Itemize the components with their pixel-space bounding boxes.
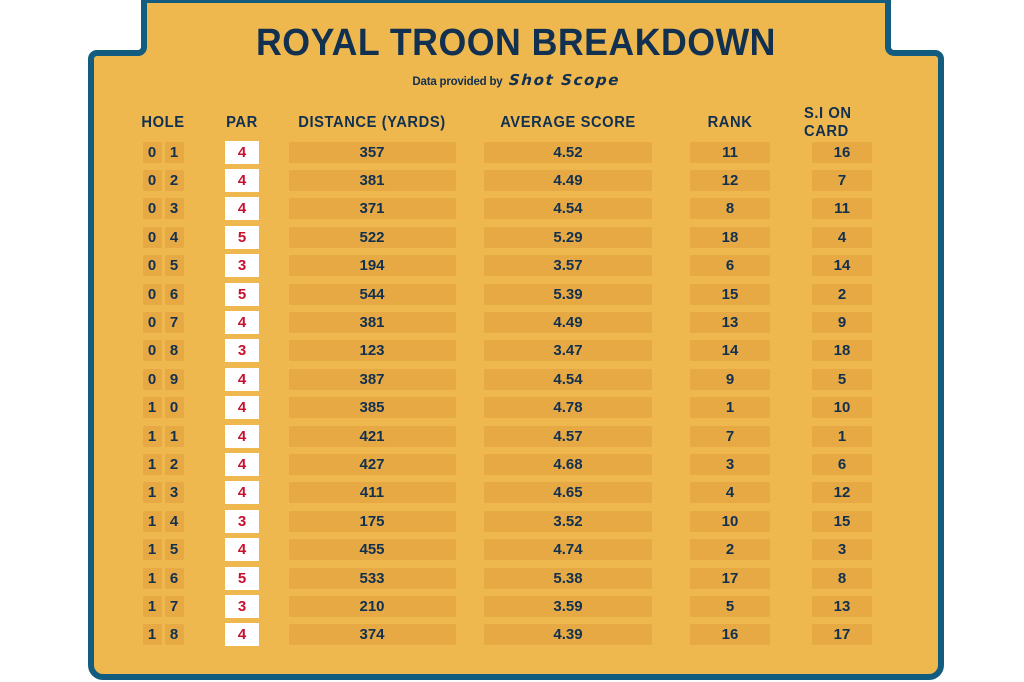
hole-digit: 0 xyxy=(143,284,162,305)
average-score-value: 4.54 xyxy=(484,369,652,390)
si-on-card-value: 10 xyxy=(812,397,872,418)
table-row: 1732103.59513 xyxy=(88,592,944,620)
rank-value: 9 xyxy=(690,369,770,390)
cell-rank: 6 xyxy=(684,252,776,280)
rank-value: 17 xyxy=(690,568,770,589)
table-row: 0343714.54811 xyxy=(88,195,944,223)
cell-si-on-card: 17 xyxy=(802,621,882,649)
column-header-average-score: AVERAGE SCORE xyxy=(484,108,651,138)
par-value: 3 xyxy=(225,510,259,533)
cell-average-score: 3.57 xyxy=(480,252,656,280)
cell-distance: 175 xyxy=(284,507,460,535)
rank-value: 1 xyxy=(690,397,770,418)
rank-value: 7 xyxy=(690,426,770,447)
hole-digit: 5 xyxy=(165,255,184,276)
cell-si-on-card: 11 xyxy=(802,195,882,223)
cell-rank: 12 xyxy=(684,166,776,194)
average-score-value: 5.39 xyxy=(484,284,652,305)
hole-digit: 0 xyxy=(143,198,162,219)
par-value: 3 xyxy=(225,339,259,362)
cell-average-score: 4.39 xyxy=(480,621,656,649)
cell-distance: 371 xyxy=(284,195,460,223)
cell-par: 4 xyxy=(212,166,272,194)
page-title: ROYAL TROON BREAKDOWN xyxy=(114,24,919,64)
par-value: 3 xyxy=(225,595,259,618)
rank-value: 13 xyxy=(690,312,770,333)
hole-digit: 3 xyxy=(165,482,184,503)
cell-distance: 123 xyxy=(284,337,460,365)
cell-average-score: 4.54 xyxy=(480,195,656,223)
si-on-card-value: 14 xyxy=(812,255,872,276)
rank-value: 3 xyxy=(690,454,770,475)
hole-digit: 4 xyxy=(165,511,184,532)
column-header-distance: DISTANCE (YARDS) xyxy=(288,108,455,138)
cell-distance: 387 xyxy=(284,365,460,393)
cell-average-score: 4.49 xyxy=(480,166,656,194)
hole-digit: 2 xyxy=(165,170,184,191)
cell-distance: 455 xyxy=(284,535,460,563)
cell-par: 4 xyxy=(212,195,272,223)
table-row: 1544554.7423 xyxy=(88,535,944,563)
par-value: 4 xyxy=(225,425,259,448)
distance-value: 123 xyxy=(289,340,456,361)
cell-rank: 18 xyxy=(684,223,776,251)
rank-value: 15 xyxy=(690,284,770,305)
cell-average-score: 4.57 xyxy=(480,422,656,450)
cell-hole: 02 xyxy=(124,166,202,194)
si-on-card-value: 9 xyxy=(812,312,872,333)
distance-value: 387 xyxy=(289,369,456,390)
distance-value: 427 xyxy=(289,454,456,475)
cell-distance: 421 xyxy=(284,422,460,450)
hole-digit: 8 xyxy=(165,340,184,361)
cell-distance: 385 xyxy=(284,394,460,422)
par-value: 5 xyxy=(225,226,259,249)
par-value: 4 xyxy=(225,141,259,164)
cell-hole: 04 xyxy=(124,223,202,251)
hole-digits: 12 xyxy=(143,454,184,475)
rank-value: 18 xyxy=(690,227,770,248)
par-value: 4 xyxy=(225,197,259,220)
average-score-value: 3.57 xyxy=(484,255,652,276)
cell-rank: 15 xyxy=(684,280,776,308)
rank-value: 5 xyxy=(690,596,770,617)
cell-rank: 3 xyxy=(684,450,776,478)
column-header-si-on-card: S.I ON CARD xyxy=(804,108,880,138)
si-on-card-value: 3 xyxy=(812,539,872,560)
hole-digits: 17 xyxy=(143,596,184,617)
cell-par: 4 xyxy=(212,365,272,393)
cell-rank: 11 xyxy=(684,138,776,166)
shot-scope-logo: Shot Scope xyxy=(508,71,620,89)
cell-average-score: 4.52 xyxy=(480,138,656,166)
distance-value: 210 xyxy=(289,596,456,617)
cell-distance: 381 xyxy=(284,166,460,194)
cell-par: 4 xyxy=(212,450,272,478)
column-header-hole: HOLE xyxy=(126,108,200,138)
cell-par: 3 xyxy=(212,252,272,280)
average-score-value: 4.49 xyxy=(484,170,652,191)
cell-hole: 08 xyxy=(124,337,202,365)
si-on-card-value: 6 xyxy=(812,454,872,475)
cell-si-on-card: 13 xyxy=(802,592,882,620)
column-header-par: PAR xyxy=(214,108,271,138)
average-score-value: 4.78 xyxy=(484,397,652,418)
table-row: 1144214.5771 xyxy=(88,422,944,450)
hole-digit: 0 xyxy=(143,369,162,390)
hole-digit: 9 xyxy=(165,369,184,390)
cell-average-score: 3.47 xyxy=(480,337,656,365)
table-row: 1843744.391617 xyxy=(88,621,944,649)
hole-digit: 0 xyxy=(143,340,162,361)
average-score-value: 4.74 xyxy=(484,539,652,560)
hole-digit: 0 xyxy=(165,397,184,418)
hole-digits: 18 xyxy=(143,624,184,645)
table-row: 1043854.78110 xyxy=(88,394,944,422)
table-row: 0455225.29184 xyxy=(88,223,944,251)
par-value: 4 xyxy=(225,169,259,192)
average-score-value: 3.52 xyxy=(484,511,652,532)
cell-si-on-card: 10 xyxy=(802,394,882,422)
si-on-card-value: 17 xyxy=(812,624,872,645)
rank-value: 2 xyxy=(690,539,770,560)
hole-digit: 1 xyxy=(143,511,162,532)
credit-line: Data provided by Shot Scope xyxy=(88,71,944,89)
cell-average-score: 4.49 xyxy=(480,308,656,336)
table-row: 1244274.6836 xyxy=(88,450,944,478)
si-on-card-value: 13 xyxy=(812,596,872,617)
cell-average-score: 3.59 xyxy=(480,592,656,620)
cell-hole: 15 xyxy=(124,535,202,563)
cell-average-score: 5.38 xyxy=(480,564,656,592)
cell-hole: 10 xyxy=(124,394,202,422)
rank-value: 10 xyxy=(690,511,770,532)
distance-value: 533 xyxy=(289,568,456,589)
table-row: 0243814.49127 xyxy=(88,166,944,194)
cell-rank: 1 xyxy=(684,394,776,422)
cell-hole: 09 xyxy=(124,365,202,393)
cell-distance: 544 xyxy=(284,280,460,308)
hole-digits: 09 xyxy=(143,369,184,390)
si-on-card-value: 5 xyxy=(812,369,872,390)
si-on-card-value: 8 xyxy=(812,568,872,589)
rank-value: 14 xyxy=(690,340,770,361)
rank-value: 11 xyxy=(690,142,770,163)
hole-digits: 07 xyxy=(143,312,184,333)
hole-digits: 11 xyxy=(143,426,184,447)
hole-digit: 0 xyxy=(143,170,162,191)
hole-digit: 3 xyxy=(165,198,184,219)
cell-par: 3 xyxy=(212,507,272,535)
si-on-card-value: 12 xyxy=(812,482,872,503)
cell-si-on-card: 8 xyxy=(802,564,882,592)
hole-digits: 06 xyxy=(143,284,184,305)
distance-value: 421 xyxy=(289,426,456,447)
cell-si-on-card: 16 xyxy=(802,138,882,166)
title-block: ROYAL TROON BREAKDOWN Data provided by S… xyxy=(88,24,944,89)
hole-digits: 13 xyxy=(143,482,184,503)
si-on-card-value: 15 xyxy=(812,511,872,532)
distance-value: 455 xyxy=(289,539,456,560)
hole-digit: 5 xyxy=(165,539,184,560)
distance-value: 175 xyxy=(289,511,456,532)
par-value: 4 xyxy=(225,481,259,504)
cell-si-on-card: 4 xyxy=(802,223,882,251)
rank-value: 8 xyxy=(690,198,770,219)
cell-distance: 427 xyxy=(284,450,460,478)
si-on-card-value: 16 xyxy=(812,142,872,163)
cell-distance: 381 xyxy=(284,308,460,336)
hole-digit: 4 xyxy=(165,227,184,248)
table-row: 0831233.471418 xyxy=(88,337,944,365)
cell-average-score: 4.74 xyxy=(480,535,656,563)
hole-digit: 8 xyxy=(165,624,184,645)
cell-par: 5 xyxy=(212,223,272,251)
hole-digit: 1 xyxy=(143,426,162,447)
rank-value: 12 xyxy=(690,170,770,191)
cell-hole: 06 xyxy=(124,280,202,308)
distance-value: 374 xyxy=(289,624,456,645)
cell-distance: 357 xyxy=(284,138,460,166)
hole-digit: 1 xyxy=(143,454,162,475)
hole-digit: 0 xyxy=(143,312,162,333)
cell-par: 4 xyxy=(212,394,272,422)
table-row: 0943874.5495 xyxy=(88,365,944,393)
hole-digit: 2 xyxy=(165,454,184,475)
table-row: 0143574.521116 xyxy=(88,138,944,166)
average-score-value: 4.65 xyxy=(484,482,652,503)
table-row: 0655445.39152 xyxy=(88,280,944,308)
cell-si-on-card: 14 xyxy=(802,252,882,280)
cell-hole: 11 xyxy=(124,422,202,450)
cell-distance: 522 xyxy=(284,223,460,251)
average-score-value: 3.47 xyxy=(484,340,652,361)
rank-value: 4 xyxy=(690,482,770,503)
distance-value: 385 xyxy=(289,397,456,418)
hole-digits: 15 xyxy=(143,539,184,560)
hole-digit: 6 xyxy=(165,568,184,589)
hole-digit: 1 xyxy=(143,596,162,617)
si-on-card-value: 18 xyxy=(812,340,872,361)
cell-par: 3 xyxy=(212,592,272,620)
column-header-rank: RANK xyxy=(686,108,773,138)
cell-rank: 4 xyxy=(684,479,776,507)
cell-rank: 5 xyxy=(684,592,776,620)
cell-hole: 05 xyxy=(124,252,202,280)
cell-hole: 14 xyxy=(124,507,202,535)
cell-si-on-card: 5 xyxy=(802,365,882,393)
cell-distance: 533 xyxy=(284,564,460,592)
hole-digits: 01 xyxy=(143,142,184,163)
cell-rank: 16 xyxy=(684,621,776,649)
score-table: HOLE PAR DISTANCE (YARDS) AVERAGE SCORE … xyxy=(88,108,944,649)
cell-rank: 2 xyxy=(684,535,776,563)
cell-si-on-card: 18 xyxy=(802,337,882,365)
distance-value: 411 xyxy=(289,482,456,503)
average-score-value: 4.54 xyxy=(484,198,652,219)
cell-rank: 9 xyxy=(684,365,776,393)
average-score-value: 5.38 xyxy=(484,568,652,589)
par-value: 4 xyxy=(225,311,259,334)
distance-value: 544 xyxy=(289,284,456,305)
cell-rank: 10 xyxy=(684,507,776,535)
cell-par: 3 xyxy=(212,337,272,365)
hole-digit: 1 xyxy=(143,624,162,645)
hole-digit: 0 xyxy=(143,227,162,248)
hole-digit: 1 xyxy=(165,426,184,447)
hole-digit: 0 xyxy=(143,142,162,163)
cell-hole: 16 xyxy=(124,564,202,592)
table-row: 0743814.49139 xyxy=(88,308,944,336)
distance-value: 357 xyxy=(289,142,456,163)
table-row: 1344114.65412 xyxy=(88,479,944,507)
cell-par: 4 xyxy=(212,422,272,450)
cell-si-on-card: 6 xyxy=(802,450,882,478)
cell-hole: 18 xyxy=(124,621,202,649)
cell-distance: 210 xyxy=(284,592,460,620)
hole-digit: 6 xyxy=(165,284,184,305)
distance-value: 381 xyxy=(289,312,456,333)
hole-digit: 1 xyxy=(143,539,162,560)
table-row: 1655335.38178 xyxy=(88,564,944,592)
cell-rank: 7 xyxy=(684,422,776,450)
hole-digits: 10 xyxy=(143,397,184,418)
cell-average-score: 3.52 xyxy=(480,507,656,535)
si-on-card-value: 1 xyxy=(812,426,872,447)
cell-par: 4 xyxy=(212,138,272,166)
cell-par: 4 xyxy=(212,621,272,649)
cell-hole: 12 xyxy=(124,450,202,478)
hole-digits: 16 xyxy=(143,568,184,589)
credit-prefix-label: Data provided by xyxy=(412,76,502,88)
average-score-value: 5.29 xyxy=(484,227,652,248)
cell-distance: 194 xyxy=(284,252,460,280)
table-row: 0531943.57614 xyxy=(88,252,944,280)
cell-average-score: 5.39 xyxy=(480,280,656,308)
par-value: 4 xyxy=(225,453,259,476)
rank-value: 6 xyxy=(690,255,770,276)
table-header-row: HOLE PAR DISTANCE (YARDS) AVERAGE SCORE … xyxy=(88,108,944,138)
distance-value: 522 xyxy=(289,227,456,248)
cell-si-on-card: 9 xyxy=(802,308,882,336)
cell-si-on-card: 1 xyxy=(802,422,882,450)
cell-hole: 03 xyxy=(124,195,202,223)
hole-digits: 14 xyxy=(143,511,184,532)
cell-par: 5 xyxy=(212,564,272,592)
average-score-value: 3.59 xyxy=(484,596,652,617)
hole-digits: 02 xyxy=(143,170,184,191)
hole-digits: 05 xyxy=(143,255,184,276)
par-value: 4 xyxy=(225,623,259,646)
cell-distance: 411 xyxy=(284,479,460,507)
rank-value: 16 xyxy=(690,624,770,645)
cell-hole: 07 xyxy=(124,308,202,336)
cell-average-score: 4.54 xyxy=(480,365,656,393)
si-on-card-value: 7 xyxy=(812,170,872,191)
hole-digit: 1 xyxy=(165,142,184,163)
cell-si-on-card: 12 xyxy=(802,479,882,507)
par-value: 4 xyxy=(225,538,259,561)
par-value: 4 xyxy=(225,368,259,391)
table-row: 1431753.521015 xyxy=(88,507,944,535)
cell-si-on-card: 2 xyxy=(802,280,882,308)
cell-par: 4 xyxy=(212,535,272,563)
par-value: 5 xyxy=(225,567,259,590)
si-on-card-value: 2 xyxy=(812,284,872,305)
cell-par: 5 xyxy=(212,280,272,308)
distance-value: 381 xyxy=(289,170,456,191)
hole-digits: 08 xyxy=(143,340,184,361)
par-value: 5 xyxy=(225,283,259,306)
average-score-value: 4.39 xyxy=(484,624,652,645)
hole-digit: 1 xyxy=(143,568,162,589)
cell-si-on-card: 15 xyxy=(802,507,882,535)
cell-average-score: 4.65 xyxy=(480,479,656,507)
average-score-value: 4.68 xyxy=(484,454,652,475)
cell-rank: 8 xyxy=(684,195,776,223)
cell-par: 4 xyxy=(212,479,272,507)
distance-value: 194 xyxy=(289,255,456,276)
scorecard-frame: ROYAL TROON BREAKDOWN Data provided by S… xyxy=(88,0,944,680)
cell-si-on-card: 3 xyxy=(802,535,882,563)
cell-distance: 374 xyxy=(284,621,460,649)
hole-digit: 7 xyxy=(165,312,184,333)
cell-average-score: 4.78 xyxy=(480,394,656,422)
cell-par: 4 xyxy=(212,308,272,336)
cell-rank: 14 xyxy=(684,337,776,365)
cell-rank: 13 xyxy=(684,308,776,336)
par-value: 3 xyxy=(225,254,259,277)
average-score-value: 4.52 xyxy=(484,142,652,163)
distance-value: 371 xyxy=(289,198,456,219)
si-on-card-value: 4 xyxy=(812,227,872,248)
cell-average-score: 4.68 xyxy=(480,450,656,478)
hole-digits: 04 xyxy=(143,227,184,248)
cell-hole: 13 xyxy=(124,479,202,507)
average-score-value: 4.57 xyxy=(484,426,652,447)
hole-digits: 03 xyxy=(143,198,184,219)
cell-si-on-card: 7 xyxy=(802,166,882,194)
cell-hole: 01 xyxy=(124,138,202,166)
cell-rank: 17 xyxy=(684,564,776,592)
hole-digit: 0 xyxy=(143,255,162,276)
table-body: 0143574.5211160243814.491270343714.54811… xyxy=(88,138,944,649)
par-value: 4 xyxy=(225,396,259,419)
cell-average-score: 5.29 xyxy=(480,223,656,251)
si-on-card-value: 11 xyxy=(812,198,872,219)
hole-digit: 1 xyxy=(143,482,162,503)
cell-hole: 17 xyxy=(124,592,202,620)
average-score-value: 4.49 xyxy=(484,312,652,333)
hole-digit: 7 xyxy=(165,596,184,617)
hole-digit: 1 xyxy=(143,397,162,418)
